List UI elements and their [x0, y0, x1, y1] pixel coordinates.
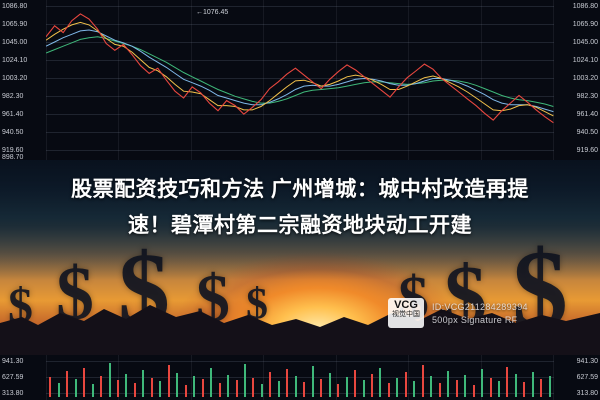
gridline-v [408, 355, 409, 400]
y-axis-right-label: 961.40 [577, 111, 598, 118]
volume-bar [219, 383, 221, 397]
volume-bar [439, 383, 441, 397]
volume-bar [413, 381, 415, 397]
volume-bar [159, 381, 161, 397]
vcg-logo: VCG 视觉中国 [388, 298, 424, 328]
y-axis-left-label: 940.50 [2, 129, 23, 136]
top-chart-plot: ←1076.45 [46, 0, 554, 160]
top-chart-series [46, 0, 554, 160]
volume-bar [66, 371, 68, 397]
volume-bar [49, 377, 51, 397]
volume-bar [515, 374, 517, 397]
y-axis-right-label: 1065.90 [573, 21, 598, 28]
volume-bar [456, 380, 458, 397]
annotation-label: ←1076.45 [196, 9, 228, 16]
volume-bar [506, 367, 508, 397]
volume-bar [202, 379, 204, 397]
volume-bar [363, 380, 365, 397]
y-axis-left-label: 982.30 [2, 93, 23, 100]
volume-bar [379, 368, 381, 397]
volume-bar [278, 381, 280, 397]
volume-bar [244, 364, 246, 397]
y-axis-right-label: 1045.00 [573, 39, 598, 46]
volume-bar [490, 378, 492, 397]
y-axis-right-label: 627.59 [577, 374, 598, 381]
vcg-logo-text: 视觉中国 [392, 311, 420, 318]
volume-bar [151, 378, 153, 397]
volume-bar [83, 368, 85, 397]
volume-bar [109, 363, 111, 397]
volume-bar [464, 375, 466, 397]
volume-bar [540, 379, 542, 397]
volume-bar [405, 372, 407, 397]
y-axis-left-label: 1003.20 [2, 75, 27, 82]
y-axis-right-label: 1086.80 [573, 3, 598, 10]
headline-line-1: 股票配资技巧和方法 广州增城：城中村改造再提 [18, 172, 582, 208]
gridline-v [263, 355, 264, 400]
volume-bar [185, 385, 187, 397]
volume-bar [168, 365, 170, 397]
y-axis-left-label: 1086.80 [2, 3, 27, 10]
y-axis-left-label: 961.40 [2, 111, 23, 118]
volume-bar [117, 380, 119, 397]
volume-bar [75, 379, 77, 397]
volume-bar [430, 376, 432, 397]
volume-bar [193, 376, 195, 397]
top-chart-panel: ←1076.45 1086.80 1065.90 1045.00 1024.10… [0, 0, 600, 160]
volume-bar [312, 366, 314, 397]
y-axis-right-label: 313.80 [577, 390, 598, 397]
y-axis-left-label: 1024.10 [2, 57, 27, 64]
hero-photo: $ $ $ $ $ $ $ $ 股票配资技巧和方法 广州增城：城中村改造再提 速… [0, 160, 600, 355]
y-axis-left-label: 627.59 [2, 374, 23, 381]
volume-bar [176, 373, 178, 397]
y-axis-left-label: 1065.90 [2, 21, 27, 28]
volume-bar [337, 384, 339, 397]
gridline-h [46, 377, 554, 378]
volume-bar [210, 368, 212, 397]
volume-bar [388, 383, 390, 397]
screenshot-root: ←1076.45 1086.80 1065.90 1045.00 1024.10… [0, 0, 600, 400]
gridline-v [553, 355, 554, 400]
volume-bar [371, 374, 373, 397]
gridline-h [46, 361, 554, 362]
y-axis-right-label: 919.60 [577, 147, 598, 154]
watermark-size: 500px Signature RF [432, 315, 517, 325]
vcg-logo-mark: VCG [388, 300, 424, 311]
volume-bar [134, 383, 136, 397]
bottom-chart-plot [46, 355, 554, 400]
y-axis-left-label: 919.60 [2, 147, 23, 154]
volume-bar [261, 384, 263, 397]
volume-bar [303, 382, 305, 397]
volume-bar [125, 374, 127, 397]
volume-bar [481, 369, 483, 397]
volume-bar [295, 376, 297, 397]
volume-bar [236, 380, 238, 397]
volume-bar [396, 378, 398, 397]
volume-bar [523, 382, 525, 397]
volume-bar [549, 376, 551, 397]
volume-bar [92, 384, 94, 397]
volume-bar [422, 365, 424, 397]
watermark-id: ID:VCG211284289394 [432, 302, 528, 312]
y-axis-left-label: 941.30 [2, 358, 23, 365]
volume-bar [142, 370, 144, 397]
y-axis-right-label: 941.30 [577, 358, 598, 365]
volume-bar [354, 370, 356, 397]
series-price [46, 14, 553, 123]
y-axis-left-label: 1045.00 [2, 39, 27, 46]
volume-bar [100, 376, 102, 397]
y-axis-right-label: 940.50 [577, 129, 598, 136]
volume-bar [286, 369, 288, 397]
volume-bar [320, 379, 322, 397]
volume-bar [498, 381, 500, 397]
series-ma-fast [46, 22, 553, 116]
y-axis-right-label: 1003.20 [573, 75, 598, 82]
gridline-v [191, 355, 192, 400]
volume-bar [329, 373, 331, 397]
volume-bar [532, 372, 534, 398]
volume-bar [473, 385, 475, 397]
bottom-chart-panel: 941.30 627.59 313.80 941.30 627.59 313.8… [0, 355, 600, 400]
volume-bar [346, 377, 348, 397]
volume-bar [269, 372, 271, 397]
y-axis-right-label: 982.30 [577, 93, 598, 100]
headline-line-2: 速！碧潭村第二宗融资地块动工开建 [18, 208, 582, 244]
gridline-v [46, 355, 47, 400]
volume-bar [227, 375, 229, 397]
y-axis-right-label: 1024.10 [573, 57, 598, 64]
volume-bar [252, 378, 254, 397]
gridline-h [46, 393, 554, 394]
y-axis-left-label: 313.80 [2, 390, 23, 397]
volume-bar [58, 383, 60, 397]
page-title: 股票配资技巧和方法 广州增城：城中村改造再提 速！碧潭村第二宗融资地块动工开建 [18, 172, 582, 244]
volume-bar [447, 371, 449, 397]
